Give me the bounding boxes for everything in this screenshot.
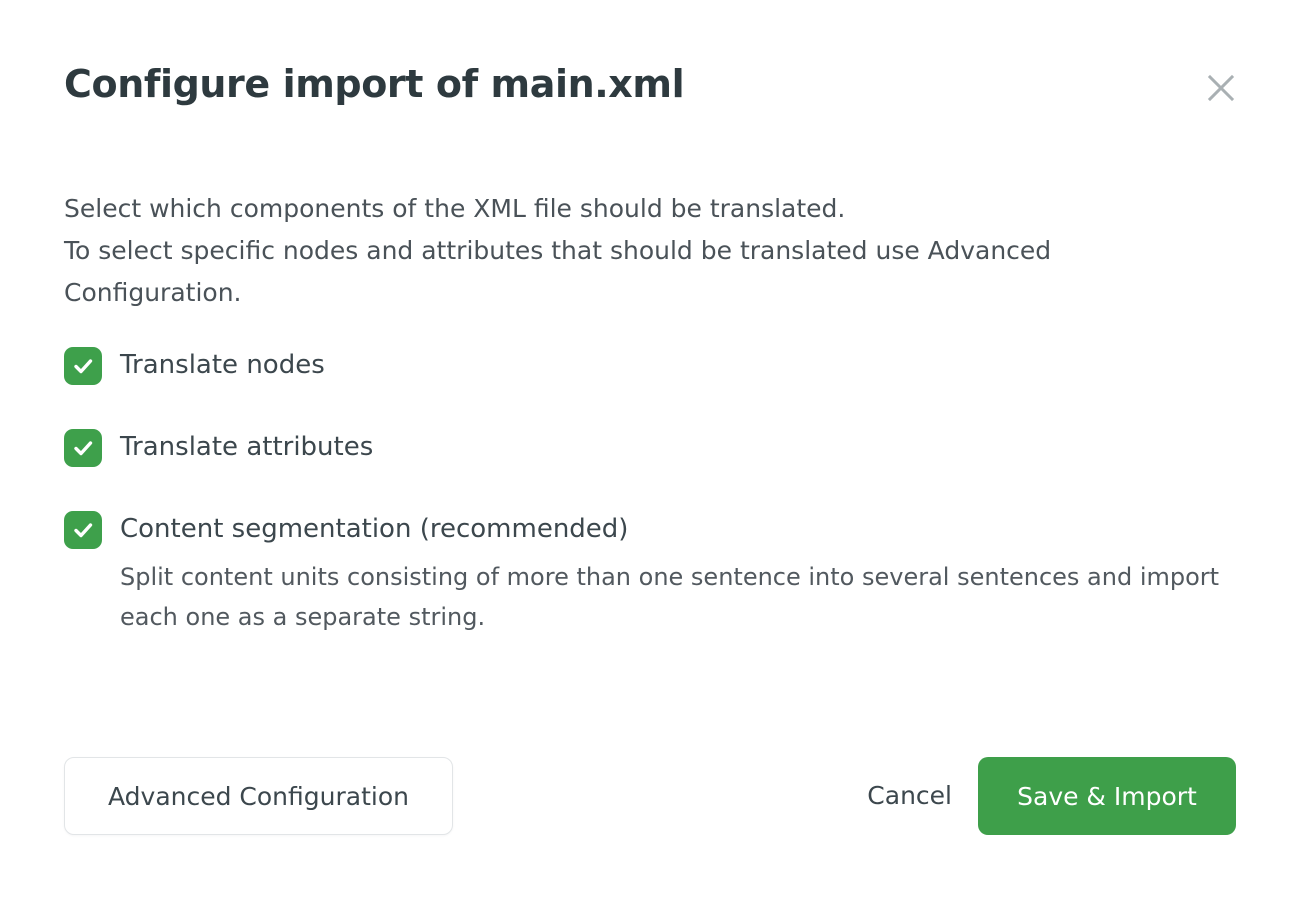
configure-import-dialog: Configure import of main.xml Select whic… — [0, 0, 1300, 900]
page-title: Configure import of main.xml — [64, 62, 1236, 108]
option-text-content-segmentation: Content segmentation (recommended) Split… — [120, 509, 1244, 637]
option-translate-nodes[interactable]: Translate nodes — [64, 345, 1244, 385]
dialog-description-line-1: Select which components of the XML file … — [64, 188, 1104, 230]
checkbox-translate-attributes[interactable] — [64, 429, 102, 467]
dialog-description: Select which components of the XML file … — [64, 188, 1104, 314]
advanced-configuration-button[interactable]: Advanced Configuration — [64, 757, 453, 835]
option-label-content-segmentation[interactable]: Content segmentation (recommended) — [120, 509, 1244, 549]
checkmark-icon — [71, 518, 95, 542]
dialog-description-line-2: To select specific nodes and attributes … — [64, 230, 1104, 314]
cancel-button[interactable]: Cancel — [861, 757, 958, 835]
option-description-content-segmentation: Split content units consisting of more t… — [120, 557, 1220, 637]
dialog-footer: Advanced Configuration Cancel Save & Imp… — [64, 757, 1236, 835]
option-text-translate-attributes: Translate attributes — [120, 427, 1244, 467]
option-label-translate-attributes[interactable]: Translate attributes — [120, 427, 1244, 467]
option-content-segmentation[interactable]: Content segmentation (recommended) Split… — [64, 509, 1244, 637]
checkmark-icon — [71, 436, 95, 460]
close-button[interactable] — [1200, 67, 1242, 109]
save-and-import-button[interactable]: Save & Import — [978, 757, 1236, 835]
dialog-header: Configure import of main.xml — [64, 62, 1236, 128]
options-list: Translate nodes Translate attributes — [64, 345, 1244, 637]
option-translate-attributes[interactable]: Translate attributes — [64, 427, 1244, 467]
option-label-translate-nodes[interactable]: Translate nodes — [120, 345, 1244, 385]
checkbox-content-segmentation[interactable] — [64, 511, 102, 549]
option-text-translate-nodes: Translate nodes — [120, 345, 1244, 385]
checkmark-icon — [71, 354, 95, 378]
checkbox-translate-nodes[interactable] — [64, 347, 102, 385]
close-icon — [1206, 73, 1236, 103]
